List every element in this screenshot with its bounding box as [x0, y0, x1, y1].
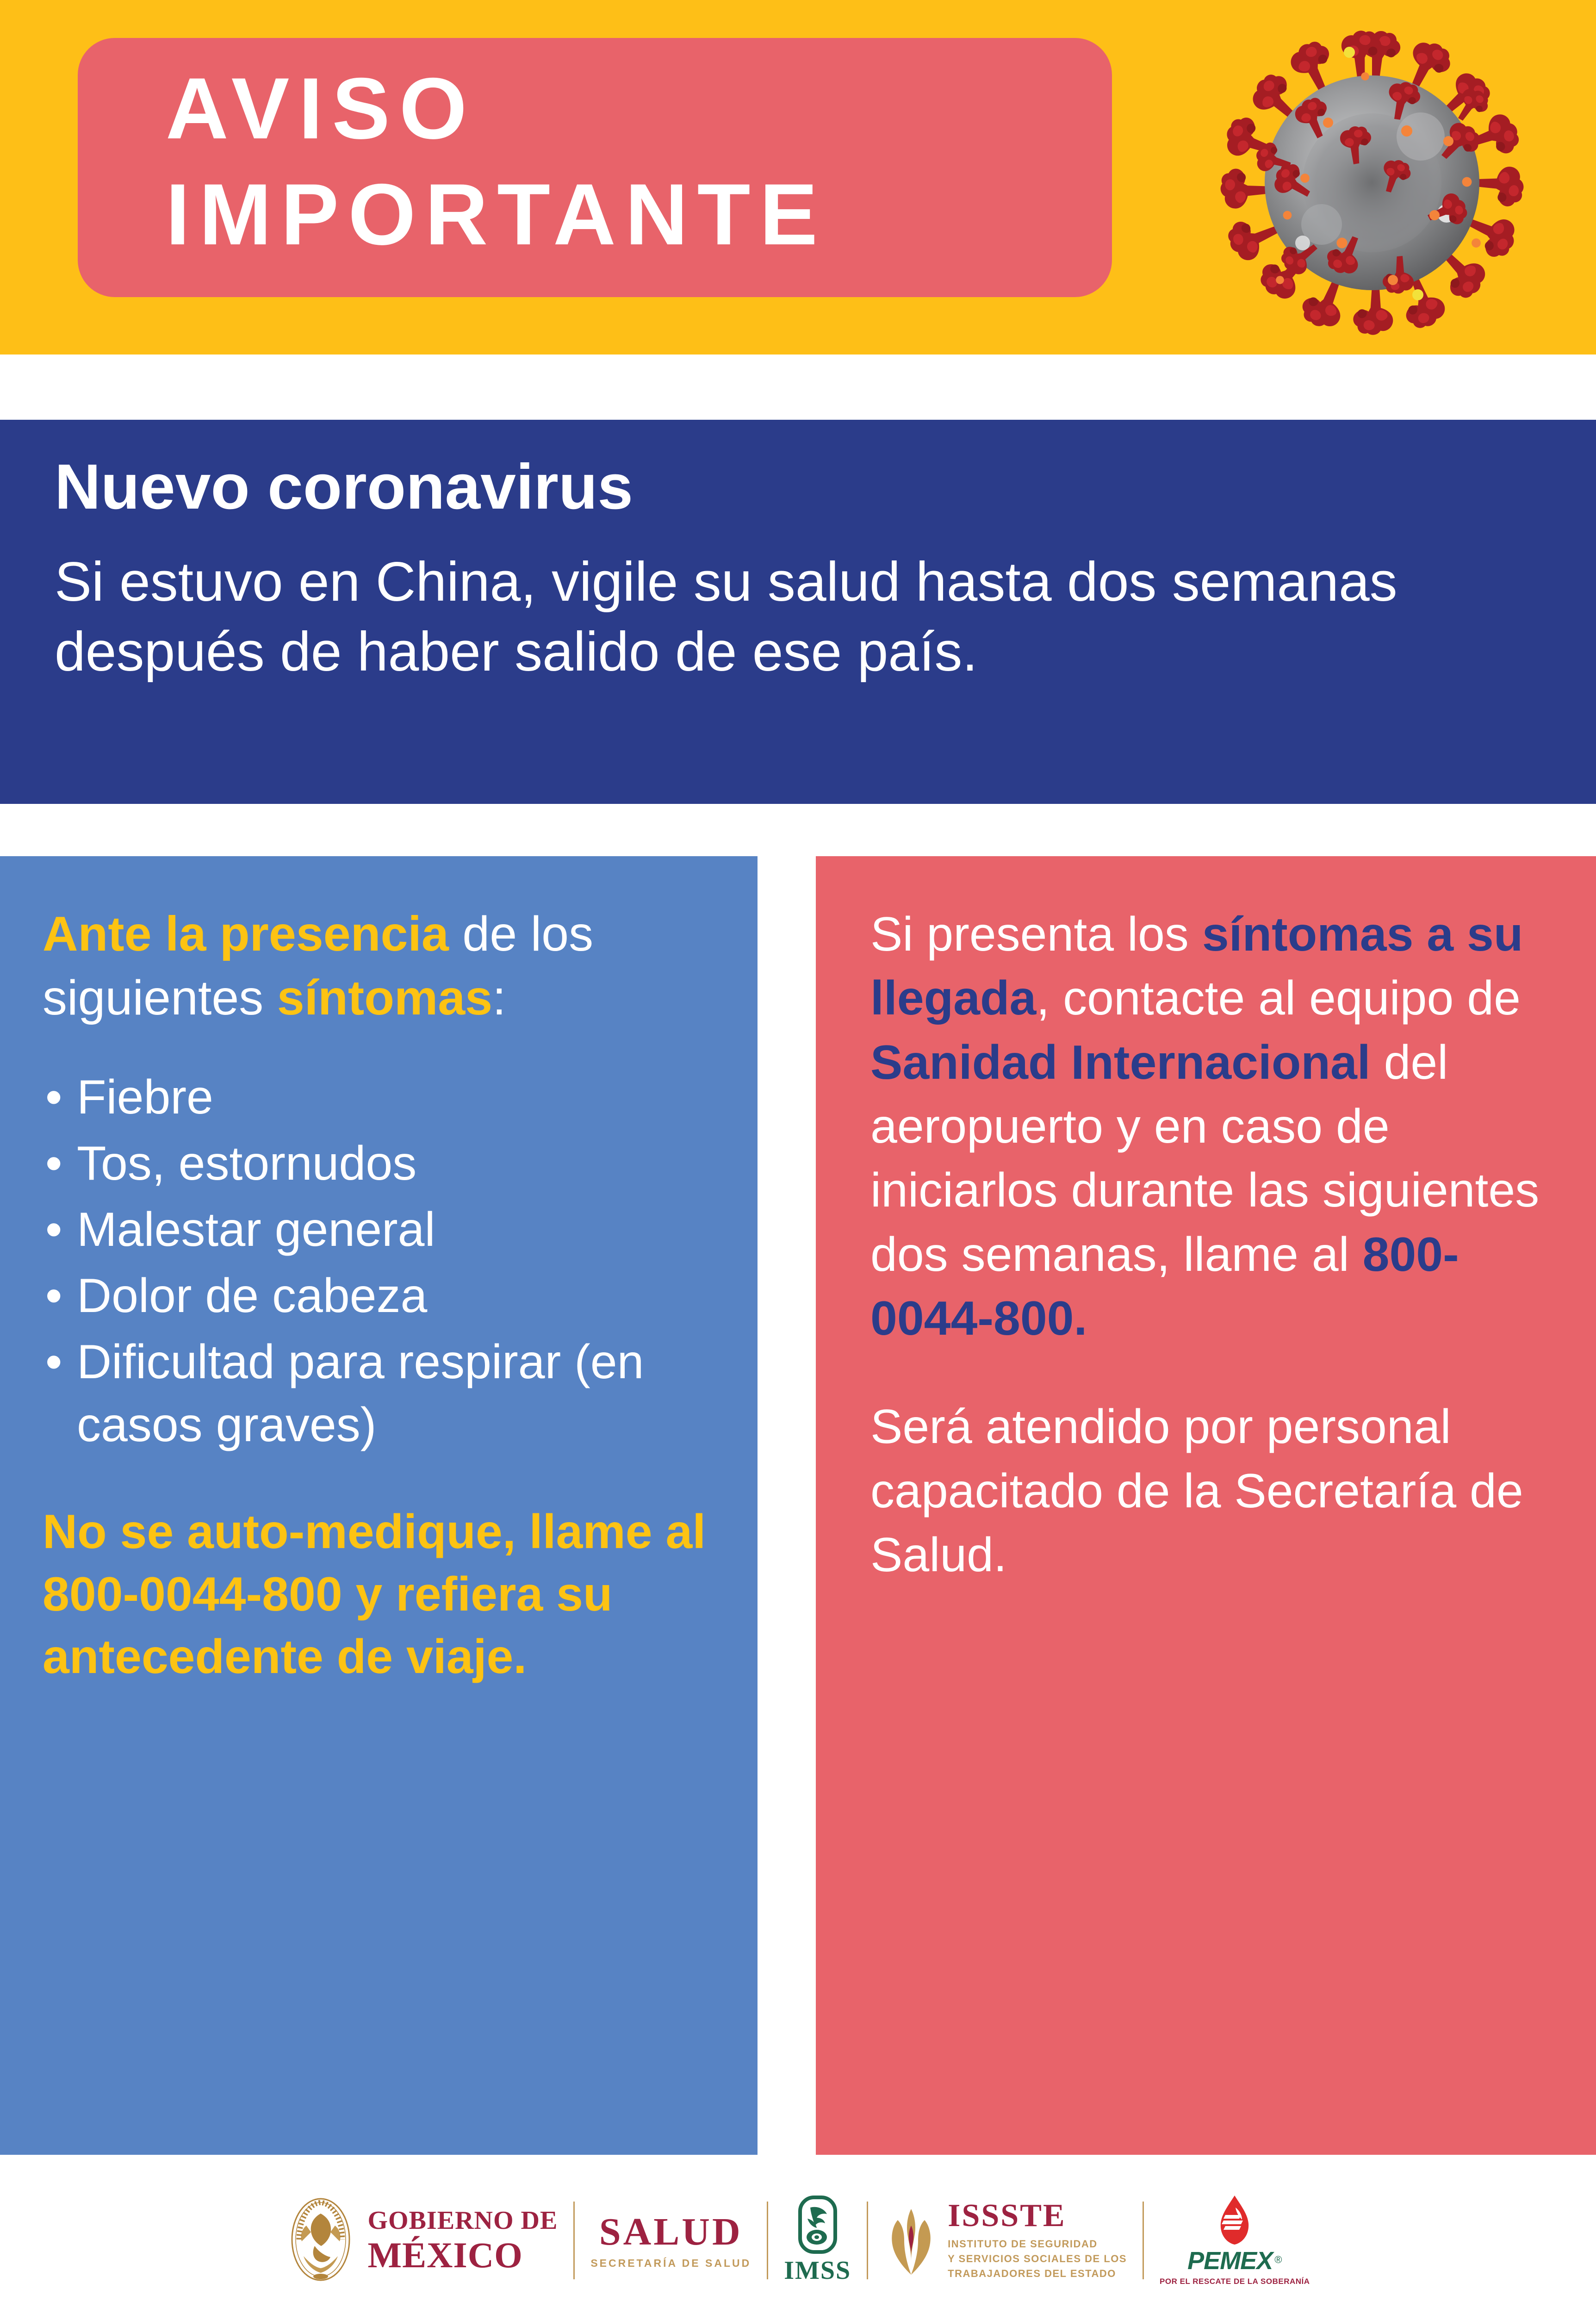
symptoms-panel: Ante la presencia de los siguientes sínt… — [0, 856, 758, 2155]
title-line-2: IMPORTANTE — [166, 162, 1112, 267]
issste-sub-line-3: TRABAJADORES DEL ESTADO — [948, 2268, 1116, 2279]
issste-logo: ISSSTE INSTITUTO DE SEGURIDAD Y SERVICIO… — [868, 2194, 1143, 2287]
pemex-flame-eagle-icon — [1212, 2195, 1257, 2246]
symptom-list: Fiebre Tos, estornudos Malestar general … — [43, 1066, 709, 1456]
banner-heading: Nuevo coronavirus — [55, 451, 1545, 523]
title-line-1: AVISO — [166, 56, 1112, 162]
arrival-highlight-sanidad: Sanidad Internacional — [870, 1036, 1371, 1089]
staff-attention-text: Será atendido por personal capacitado de… — [870, 1395, 1554, 1587]
self-medication-warning: No se auto-medique, llame al 800-0044-80… — [43, 1501, 709, 1689]
gobierno-line-2: MÉXICO — [367, 2237, 558, 2273]
issste-sub-line-2: Y SERVICIOS SOCIALES DE LOS — [948, 2253, 1127, 2264]
imss-name: IMSS — [784, 2256, 851, 2285]
imss-logo: IMSS — [768, 2194, 867, 2287]
arrival-text-c: , contacte al equipo de — [1036, 971, 1521, 1025]
institutional-logo-bar: GOBIERNO DE MÉXICO SALUD SECRETARÍA DE S… — [0, 2156, 1596, 2314]
salud-logo: SALUD SECRETARÍA DE SALUD — [575, 2194, 767, 2287]
banner-body: Si estuvo en China, vigile su salud hast… — [55, 547, 1545, 687]
symptoms-lead-highlight-1: Ante la presencia — [43, 907, 449, 961]
coronavirus-particle-icon — [1189, 0, 1555, 391]
list-item: Tos, estornudos — [43, 1132, 709, 1195]
arrival-instructions-panel: Si presenta los síntomas a su llegada, c… — [816, 856, 1596, 2155]
arrival-text-a: Si presenta los — [870, 908, 1202, 961]
list-item: Malestar general — [43, 1199, 709, 1261]
issste-hands-mark-icon — [884, 2202, 938, 2279]
arrival-instructions-text: Si presenta los síntomas a su llegada, c… — [870, 902, 1554, 1350]
pemex-tagline: POR EL RESCATE DE LA SOBERANÍA — [1160, 2277, 1310, 2286]
pemex-logo: PEMEX ® POR EL RESCATE DE LA SOBERANÍA — [1144, 2194, 1326, 2287]
issste-sub-line-1: INSTITUTO DE SEGURIDAD — [948, 2238, 1098, 2250]
list-item: Dificultad para respirar (en casos grave… — [43, 1331, 709, 1456]
coronavirus-banner: Nuevo coronavirus Si estuvo en China, vi… — [0, 420, 1596, 804]
salud-subtitle: SECRETARÍA DE SALUD — [590, 2258, 751, 2269]
symptoms-lead: Ante la presencia de los siguientes sínt… — [43, 902, 709, 1030]
list-item: Fiebre — [43, 1066, 709, 1129]
pemex-name: PEMEX — [1187, 2246, 1273, 2275]
symptoms-lead-highlight-2: síntomas — [277, 970, 492, 1025]
imss-eagle-mark-icon — [798, 2196, 837, 2254]
title-badge: AVISO IMPORTANTE — [78, 38, 1112, 297]
list-item: Dolor de cabeza — [43, 1265, 709, 1327]
mexico-eagle-seal-icon — [286, 2195, 355, 2286]
salud-name: SALUD — [599, 2213, 743, 2252]
gobierno-de-mexico-logo: GOBIERNO DE MÉXICO — [270, 2194, 573, 2287]
gobierno-line-1: GOBIERNO DE — [367, 2208, 558, 2233]
symptoms-lead-colon: : — [492, 970, 506, 1025]
pemex-registered-mark: ® — [1274, 2254, 1282, 2266]
issste-name: ISSSTE — [948, 2200, 1127, 2232]
